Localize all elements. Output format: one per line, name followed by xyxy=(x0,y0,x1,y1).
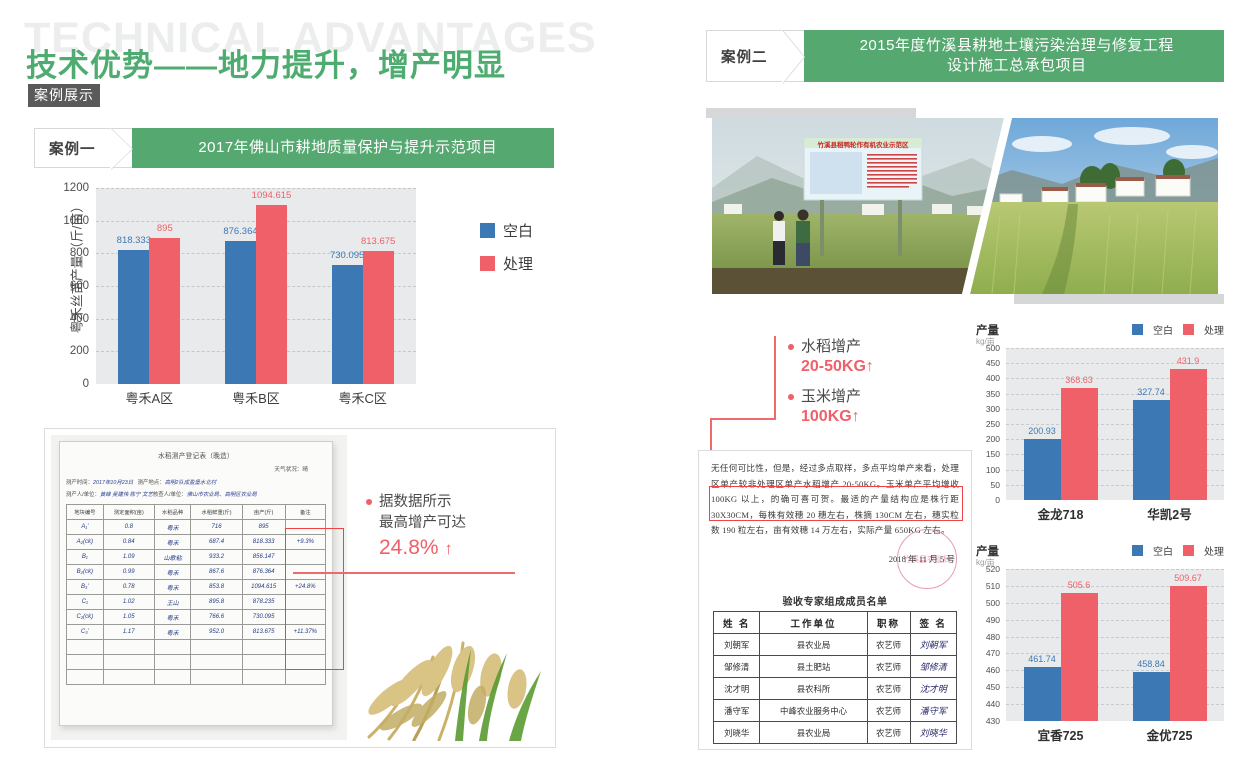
legend-label-blank: 空白 xyxy=(1153,543,1173,558)
mini-chart-bar: 200.93 xyxy=(1024,439,1061,500)
callout-right-item2-value-wrap: 100KG↑ xyxy=(801,408,948,426)
measurement-table-cell xyxy=(154,655,191,670)
chart-mini-2-bars: 461.74505.6458.84509.67 xyxy=(1006,569,1224,721)
measurement-table-cell: 1.17 xyxy=(103,625,154,640)
case2-arrow-icon xyxy=(782,30,804,82)
table-row: C₃'1.17粤禾952.0813.675+11.37% xyxy=(67,625,326,640)
measurement-table-cell: 813.675 xyxy=(242,625,285,640)
chart-mini-1-yaxis: 050100150200250300350400450500 xyxy=(976,348,1003,500)
measurement-table-cell xyxy=(285,655,325,670)
svg-text:竹溪县稻鸭轮作有机农业示范区: 竹溪县稻鸭轮作有机农业示范区 xyxy=(817,140,910,149)
chart-main-ytick: 400 xyxy=(70,313,89,325)
table-row: A₂(ck)0.84粤禾687.4818.333+9.3% xyxy=(67,535,326,550)
measurement-table-header-cell: 测定面积(亩) xyxy=(103,505,154,520)
measurement-table-header-cell: 备注 xyxy=(285,505,325,520)
measurement-table-cell: 716 xyxy=(191,520,242,535)
mini-chart-bar-value: 431.9 xyxy=(1177,356,1200,366)
chart-main-bar: 730.095 xyxy=(332,265,363,384)
table-row: B₂(ck)0.99粤禾867.6876.364 xyxy=(67,565,326,580)
chart-mini-1-bars: 200.93368.63327.74431.9 xyxy=(1006,348,1224,500)
expert-table-header-cell: 姓 名 xyxy=(714,612,760,634)
expert-table-header-cell: 职称 xyxy=(867,612,910,634)
form-meta-person-label: 测产人/单位： xyxy=(66,492,100,498)
callout-left: 据数据所示 最高增产可达 24.8% ↑ xyxy=(366,492,536,560)
measurement-table-header-cell: 亩产(斤) xyxy=(242,505,285,520)
form-meta-place-value: 高明2队成盈堡水北村 xyxy=(165,480,217,486)
measurement-table-cell xyxy=(191,640,242,655)
measurement-table-cell: 856.147 xyxy=(242,550,285,565)
measurement-table-cell xyxy=(242,640,285,655)
mini-chart-ytick: 500 xyxy=(986,598,1000,608)
expert-table-cell-unit: 县农业局 xyxy=(760,722,867,744)
table-row: 潘守军中峰农业服务中心农艺师潘守军 xyxy=(714,700,957,722)
chart-main-bar-value: 876.364 xyxy=(223,226,257,237)
measurement-table-cell xyxy=(285,670,325,685)
chart-main-bar: 895 xyxy=(149,238,180,384)
measurement-table-cell: 687.4 xyxy=(191,535,242,550)
measurement-table-cell: 730.095 xyxy=(242,610,285,625)
mini-chart-bar: 458.84 xyxy=(1133,672,1170,721)
measurement-table-cell xyxy=(67,655,104,670)
table-row: B₃'0.78粤禾853.81094.615+24.8% xyxy=(67,580,326,595)
expert-table-cell-unit: 中峰农业服务中心 xyxy=(760,700,867,722)
chart-mini-2-legend: 空白 处理 xyxy=(1132,543,1224,558)
form-meta-verify-label: 核查人/单位： xyxy=(153,492,187,498)
photo-band-shadow-top xyxy=(706,108,916,118)
measurement-table-cell: 0.84 xyxy=(103,535,154,550)
legend-swatch-red xyxy=(480,256,495,271)
measurement-table-cell: 0.78 xyxy=(103,580,154,595)
mini-chart-ytick: 0 xyxy=(995,495,1000,505)
table-row: B₁1.09山歌粘933.2856.147 xyxy=(67,550,326,565)
measurement-table-cell: 粤禾 xyxy=(154,520,191,535)
chart-main-xtick: 粤禾C区 xyxy=(320,388,406,407)
chart-mini-1: 产量 kg/亩 空白 处理 05010015020025030035040045… xyxy=(976,322,1224,527)
form-weather: 天气状况：晴 xyxy=(60,465,308,473)
measurement-table-cell: 粤禾 xyxy=(154,625,191,640)
table-row: C₂(ck)1.05粤禾766.6730.095 xyxy=(67,610,326,625)
chart-main-xtick: 粤禾A区 xyxy=(106,388,192,407)
measurement-table-cell: 粤禾 xyxy=(154,580,191,595)
rice-ear-photo xyxy=(359,609,549,741)
measurement-table-cell xyxy=(285,640,325,655)
measurement-table-cell: 876.364 xyxy=(242,565,285,580)
measurement-table-cell xyxy=(285,520,325,535)
chart-main-bar: 1094.615 xyxy=(256,205,287,384)
legend-label-treated: 处理 xyxy=(503,253,533,274)
measurement-table-header-cell: 水稻品种 xyxy=(154,505,191,520)
form-meta-time-value: 2017年10月23日 xyxy=(93,480,133,486)
measurement-table-cell: +11.37% xyxy=(285,625,325,640)
chart-main-ytick: 1000 xyxy=(63,215,89,227)
measurement-table-cell: A₂(ck) xyxy=(67,535,104,550)
expert-table: 姓 名工作单位职称签 名刘朝军县农业局农艺师刘朝军邹修清县土肥站农艺师邹修清沈才… xyxy=(713,611,957,744)
measurement-table-cell: C₂(ck) xyxy=(67,610,104,625)
mini-chart-ytick: 250 xyxy=(986,419,1000,429)
expert-table-cell-title: 农艺师 xyxy=(867,700,910,722)
form-meta-row1: 测产时间：2017年10月23日 测产地点：高明2队成盈堡水北村 xyxy=(60,477,332,489)
measurement-table-cell xyxy=(67,670,104,685)
chart-main-bar-value: 730.095 xyxy=(330,250,364,261)
measurement-table-cell: 0.99 xyxy=(103,565,154,580)
legend-label-treated: 处理 xyxy=(1204,543,1224,558)
callout-left-value-wrap: 24.8% ↑ xyxy=(379,536,536,560)
measurement-table-cell: B₃' xyxy=(67,580,104,595)
measurement-form-paper: 水稻测产登记表（晚造） 天气状况：晴 测产时间：2017年10月23日 测产地点… xyxy=(59,441,333,726)
mini-chart-ytick: 450 xyxy=(986,358,1000,368)
chart-mini-1-legend: 空白 处理 xyxy=(1132,322,1224,337)
measurement-table-cell: B₁ xyxy=(67,550,104,565)
expert-table-cell-name: 潘守军 xyxy=(714,700,760,722)
chart-main-bar: 876.364 xyxy=(225,241,256,384)
mini-chart-bar-value: 458.84 xyxy=(1137,659,1165,669)
chart-main-bars: 818.333895876.3641094.615730.095813.675 xyxy=(96,188,416,384)
callout-right-item1-label: 水稻增产 xyxy=(801,338,861,355)
mini-chart-ytick: 450 xyxy=(986,682,1000,692)
chart-main-bar-value: 1094.615 xyxy=(252,190,292,201)
mini-chart-xtick: 宜香725 xyxy=(1017,725,1105,744)
table-row: A₁'0.8粤禾716895 xyxy=(67,520,326,535)
measurement-table-cell: 山歌粘 xyxy=(154,550,191,565)
callout-left-line2: 最高增产可达 xyxy=(379,513,536,534)
measurement-table-cell: 895.8 xyxy=(191,595,242,610)
acceptance-document-panel: 无任何可比性，但是，经过多点取样，多点平均单产来看，处理区单产较非处理区单产水稻… xyxy=(698,450,972,750)
form-title: 水稻测产登记表（晚造） xyxy=(60,450,332,460)
mini-chart-ytick: 150 xyxy=(986,449,1000,459)
measurement-table-cell xyxy=(103,670,154,685)
form-meta-place-label: 测产地点： xyxy=(138,480,165,486)
measurement-table-cell: 1094.615 xyxy=(242,580,285,595)
chart-mini-2-yaxis: 430440450460470480490500510520 xyxy=(976,569,1003,721)
mini-chart-group: 461.74505.6 xyxy=(1017,569,1105,721)
measurement-table-cell: +24.8% xyxy=(285,580,325,595)
callout-right-item1-value: 20-50KG xyxy=(801,358,866,375)
expert-table-cell-title: 农艺师 xyxy=(867,656,910,678)
up-arrow-icon: ↑ xyxy=(444,539,453,558)
chart-main-bar: 818.333 xyxy=(118,250,149,384)
chart-main-xtick: 粤禾B区 xyxy=(213,388,299,407)
case2-banner-line1: 2015年度竹溪县耕地土壤污染治理与修复工程 xyxy=(860,36,1174,56)
chart-mini-2-xaxis: 宜香725金优725 xyxy=(1006,725,1224,744)
measurement-table-cell: 867.6 xyxy=(191,565,242,580)
mini-chart-ytick: 520 xyxy=(986,564,1000,574)
measurement-table-cell xyxy=(285,550,325,565)
mini-chart-ytick: 430 xyxy=(986,716,1000,726)
chart-main-group: 818.333895 xyxy=(106,188,192,384)
measurement-table-cell: C₃' xyxy=(67,625,104,640)
photo-band-shadow-bottom xyxy=(1014,294,1224,304)
legend-swatch-blue xyxy=(1132,324,1143,335)
legend-swatch-blue xyxy=(480,223,495,238)
expert-table-header-cell: 工作单位 xyxy=(760,612,867,634)
expert-table-cell-title: 农艺师 xyxy=(867,678,910,700)
callout-right-item2-value: 100KG xyxy=(801,408,852,425)
document-highlight-box xyxy=(709,486,963,521)
mini-chart-bar-value: 505.6 xyxy=(1068,580,1091,590)
callout-right-item2: 玉米增产 100KG↑ xyxy=(788,386,948,426)
legend-label-blank: 空白 xyxy=(1153,322,1173,337)
expert-table-cell-unit: 县农业局 xyxy=(760,634,867,656)
measurement-table-cell: 0.8 xyxy=(103,520,154,535)
case1-tab-label: 案例一 xyxy=(34,128,110,168)
legend-item-treated: 处理 xyxy=(480,253,533,274)
mini-chart-ytick: 440 xyxy=(986,699,1000,709)
chart-main-legend: 空白 处理 xyxy=(480,220,533,286)
measurement-table-cell: 1.05 xyxy=(103,610,154,625)
callout-right-item2-wrap: 玉米增产 xyxy=(788,386,948,408)
expert-table-cell-sign: 邹修清 xyxy=(910,656,957,678)
expert-table-cell-sign: 潘守军 xyxy=(910,700,957,722)
chart-main-ytick: 600 xyxy=(70,280,89,292)
mini-chart-xtick: 华凯2号 xyxy=(1126,504,1214,523)
chart-main-group: 876.3641094.615 xyxy=(213,188,299,384)
expert-table-cell-title: 农艺师 xyxy=(867,634,910,656)
legend-label-treated: 处理 xyxy=(1204,322,1224,337)
mini-chart-ytick: 100 xyxy=(986,465,1000,475)
mini-chart-bar: 461.74 xyxy=(1024,667,1061,721)
measurement-table-cell: 933.2 xyxy=(191,550,242,565)
measurement-table-cell: 粤禾 xyxy=(154,565,191,580)
rice-ear-illustration xyxy=(359,609,549,741)
bullet-dot-icon xyxy=(366,499,372,505)
callout-right-item1-wrap: 水稻增产 xyxy=(788,336,948,358)
callout-right-horizontal-line xyxy=(710,418,776,420)
case2-tab-label: 案例二 xyxy=(706,30,782,82)
chart-main-bar-value: 818.333 xyxy=(117,235,151,246)
measurement-table-cell: 878.235 xyxy=(242,595,285,610)
measurement-table-cell xyxy=(242,670,285,685)
expert-table-cell-unit: 县土肥站 xyxy=(760,656,867,678)
table-row: 沈才明县农科所农艺师沈才明 xyxy=(714,678,957,700)
chart-main-ytick: 200 xyxy=(70,345,89,357)
measurement-table-cell xyxy=(103,640,154,655)
callout-right: 水稻增产 20-50KG↑ 玉米增产 100KG↑ xyxy=(788,336,948,436)
expert-table-cell-unit: 县农科所 xyxy=(760,678,867,700)
bullet-dot-icon xyxy=(788,394,794,400)
mini-chart-ytick: 300 xyxy=(986,404,1000,414)
callout-left-value: 24.8% xyxy=(379,536,439,559)
table-row xyxy=(67,670,326,685)
measurement-table-cell xyxy=(285,595,325,610)
mini-chart-bar: 368.63 xyxy=(1061,388,1098,500)
mini-chart-group: 327.74431.9 xyxy=(1126,348,1214,500)
callout-right-item2-label: 玉米增产 xyxy=(801,388,861,405)
table-row: 刘朝军县农业局农艺师刘朝军 xyxy=(714,634,957,656)
mini-chart-bar: 505.6 xyxy=(1061,593,1098,721)
mini-chart-ytick: 480 xyxy=(986,632,1000,642)
measurement-table-cell: B₂(ck) xyxy=(67,565,104,580)
form-meta-verify-value: 佛山市农业局、高明区农业局 xyxy=(187,492,257,498)
mini-chart-ytick: 500 xyxy=(986,343,1000,353)
expert-table-cell-name: 刘晓华 xyxy=(714,722,760,744)
legend-label-blank: 空白 xyxy=(503,220,533,241)
measurement-table-cell: +9.3% xyxy=(285,535,325,550)
measurement-table-cell: C₁ xyxy=(67,595,104,610)
chart-main-xaxis: 粤禾A区粤禾B区粤禾C区 xyxy=(96,388,416,407)
callout-right-vertical-line xyxy=(774,336,776,418)
expert-table-cell-sign: 刘朝军 xyxy=(910,634,957,656)
table-row xyxy=(67,655,326,670)
case2-banner-line2: 设计施工总承包项目 xyxy=(860,56,1174,76)
chart-main: 粤禾丝苗产量（斤/亩） 020040060080010001200 818.33… xyxy=(50,182,550,414)
callout-connector-horizontal xyxy=(293,572,515,574)
bullet-dot-icon xyxy=(788,344,794,350)
expert-table-header-cell: 签 名 xyxy=(910,612,957,634)
section-chip: 案例展示 xyxy=(28,84,100,107)
measurement-table-cell: 王山 xyxy=(154,595,191,610)
page-title: 技术优势——地力提升，增产明显 xyxy=(26,40,506,85)
chart-main-group: 730.095813.675 xyxy=(320,188,406,384)
measurement-table-cell: 1.02 xyxy=(103,595,154,610)
chart-main-bar-value: 895 xyxy=(157,223,173,234)
up-arrow-icon: ↑ xyxy=(866,358,874,375)
measurement-table-header-cell: 水稻鲜重(斤) xyxy=(191,505,242,520)
up-arrow-icon: ↑ xyxy=(852,408,860,425)
measurement-table-cell: 818.333 xyxy=(242,535,285,550)
expert-table-header-row: 姓 名工作单位职称签 名 xyxy=(714,612,957,634)
field-photo-band: 竹溪县稻鸭轮作有机农业示范区 xyxy=(706,108,1224,304)
mini-chart-bar-value: 200.93 xyxy=(1028,426,1056,436)
mini-chart-xtick: 金优725 xyxy=(1126,725,1214,744)
left-column: TECHNICAL ADVANTAGES 技术优势——地力提升，增产明显 案例展… xyxy=(0,0,620,761)
measurement-table-cell xyxy=(285,610,325,625)
form-meta-person-value: 黄峰 吴建伟 陈宁 文艺 xyxy=(100,492,153,498)
callout-right-item1: 水稻增产 20-50KG↑ xyxy=(788,336,948,376)
mini-chart-ytick: 490 xyxy=(986,615,1000,625)
expert-table-cell-name: 沈才明 xyxy=(714,678,760,700)
form-meta-time-label: 测产时间： xyxy=(66,480,93,486)
mini-chart-bar-value: 368.63 xyxy=(1065,375,1093,385)
measurement-table-cell xyxy=(242,655,285,670)
measurement-table-header-row: 地块编号测定面积(亩)水稻品种水稻鲜重(斤)亩产(斤)备注 xyxy=(67,505,326,520)
measurement-table: 地块编号测定面积(亩)水稻品种水稻鲜重(斤)亩产(斤)备注A₁'0.8粤禾716… xyxy=(66,504,326,685)
callout-left-line1: 据数据所示 xyxy=(379,494,452,510)
measurement-table-cell: 766.6 xyxy=(191,610,242,625)
mini-chart-ytick: 470 xyxy=(986,648,1000,658)
table-row: 邹修清县土肥站农艺师邹修清 xyxy=(714,656,957,678)
mini-chart-ytick: 200 xyxy=(986,434,1000,444)
chart-main-ytick: 0 xyxy=(83,378,89,390)
legend-swatch-red xyxy=(1183,545,1194,556)
legend-swatch-red xyxy=(1183,324,1194,335)
expert-table-cell-name: 刘朝军 xyxy=(714,634,760,656)
case1-arrow-icon xyxy=(110,128,132,168)
field-photos: 竹溪县稻鸭轮作有机农业示范区 xyxy=(712,118,1218,294)
chart-main-ytick: 1200 xyxy=(63,182,89,194)
chart-mini-2: 产量 kg/亩 空白 处理 43044045046047048049050051… xyxy=(976,543,1224,748)
mini-chart-group: 200.93368.63 xyxy=(1017,348,1105,500)
slide-page: TECHNICAL ADVANTAGES 技术优势——地力提升，增产明显 案例展… xyxy=(0,0,1248,761)
measurement-table-cell: 粤禾 xyxy=(154,610,191,625)
expert-table-cell-sign: 刘晓华 xyxy=(910,722,957,744)
measurement-table-cell: 853.8 xyxy=(191,580,242,595)
chart-main-yaxis: 020040060080010001200 xyxy=(50,182,94,384)
mini-chart-ytick: 50 xyxy=(991,480,1000,490)
mini-chart-bar: 327.74 xyxy=(1133,400,1170,500)
measurement-table-cell: 952.0 xyxy=(191,625,242,640)
case1-evidence-panel: 水稻测产登记表（晚造） 天气状况：晴 测产时间：2017年10月23日 测产地点… xyxy=(44,428,556,748)
mini-chart-group: 458.84509.67 xyxy=(1126,569,1214,721)
measurement-table-cell xyxy=(103,655,154,670)
mini-chart-ytick: 400 xyxy=(986,373,1000,383)
measurement-table-cell xyxy=(191,655,242,670)
mini-chart-bar-value: 509.67 xyxy=(1174,573,1202,583)
chart-main-ytick: 800 xyxy=(70,247,89,259)
measurement-table-cell: 粤禾 xyxy=(154,535,191,550)
document-date: 2018 年 11 月 5 号 xyxy=(889,553,955,565)
case2-banner-text: 2015年度竹溪县耕地土壤污染治理与修复工程 设计施工总承包项目 xyxy=(804,30,1225,82)
legend-item-blank: 空白 xyxy=(480,220,533,241)
table-row: C₁1.02王山895.8878.235 xyxy=(67,595,326,610)
mini-chart-bar: 509.67 xyxy=(1170,586,1207,721)
mini-chart-ytick: 350 xyxy=(986,389,1000,399)
mini-chart-xtick: 金龙718 xyxy=(1017,504,1105,523)
measurement-table-cell xyxy=(154,640,191,655)
expert-table-cell-name: 邹修清 xyxy=(714,656,760,678)
form-meta-row2: 测产人/单位：黄峰 吴建伟 陈宁 文艺核查人/单位：佛山市农业局、高明区农业局 xyxy=(60,489,332,501)
measurement-table-header-cell: 地块编号 xyxy=(67,505,104,520)
measurement-table-cell xyxy=(67,640,104,655)
chart-mini-1-xaxis: 金龙718华凯2号 xyxy=(1006,504,1224,523)
measurement-table-cell xyxy=(191,670,242,685)
measurement-table-cell: 1.09 xyxy=(103,550,154,565)
mini-chart-ytick: 460 xyxy=(986,665,1000,675)
expert-table-cell-sign: 沈才明 xyxy=(910,678,957,700)
measurement-form-photo: 水稻测产登记表（晚造） 天气状况：晴 测产时间：2017年10月23日 测产地点… xyxy=(51,435,347,740)
case1-banner-text: 2017年佛山市耕地质量保护与提升示范项目 xyxy=(132,128,555,168)
callout-right-item1-value-wrap: 20-50KG↑ xyxy=(801,358,948,376)
callout-left-line1-wrap: 据数据所示 xyxy=(366,492,536,513)
field-photo-illustration: 竹溪县稻鸭轮作有机农业示范区 xyxy=(712,118,1218,294)
mini-chart-bar-value: 461.74 xyxy=(1028,654,1056,664)
case1-banner: 案例一 2017年佛山市耕地质量保护与提升示范项目 xyxy=(34,128,554,168)
expert-table-title: 验收专家组成成员名单 xyxy=(699,593,971,608)
mini-chart-ytick: 510 xyxy=(986,581,1000,591)
measurement-table-cell xyxy=(154,670,191,685)
legend-swatch-blue xyxy=(1132,545,1143,556)
mini-chart-bar: 431.9 xyxy=(1170,369,1207,500)
chart-main-bar: 813.675 xyxy=(363,251,394,384)
mini-chart-bar-value: 327.74 xyxy=(1137,387,1165,397)
measurement-table-cell: A₁' xyxy=(67,520,104,535)
expert-table-cell-title: 农艺师 xyxy=(867,722,910,744)
chart-main-bar-value: 813.675 xyxy=(361,236,395,247)
measurement-table-cell: 895 xyxy=(242,520,285,535)
case2-banner: 案例二 2015年度竹溪县耕地土壤污染治理与修复工程 设计施工总承包项目 xyxy=(706,30,1224,82)
table-row: 刘晓华县农业局农艺师刘晓华 xyxy=(714,722,957,744)
table-row xyxy=(67,640,326,655)
